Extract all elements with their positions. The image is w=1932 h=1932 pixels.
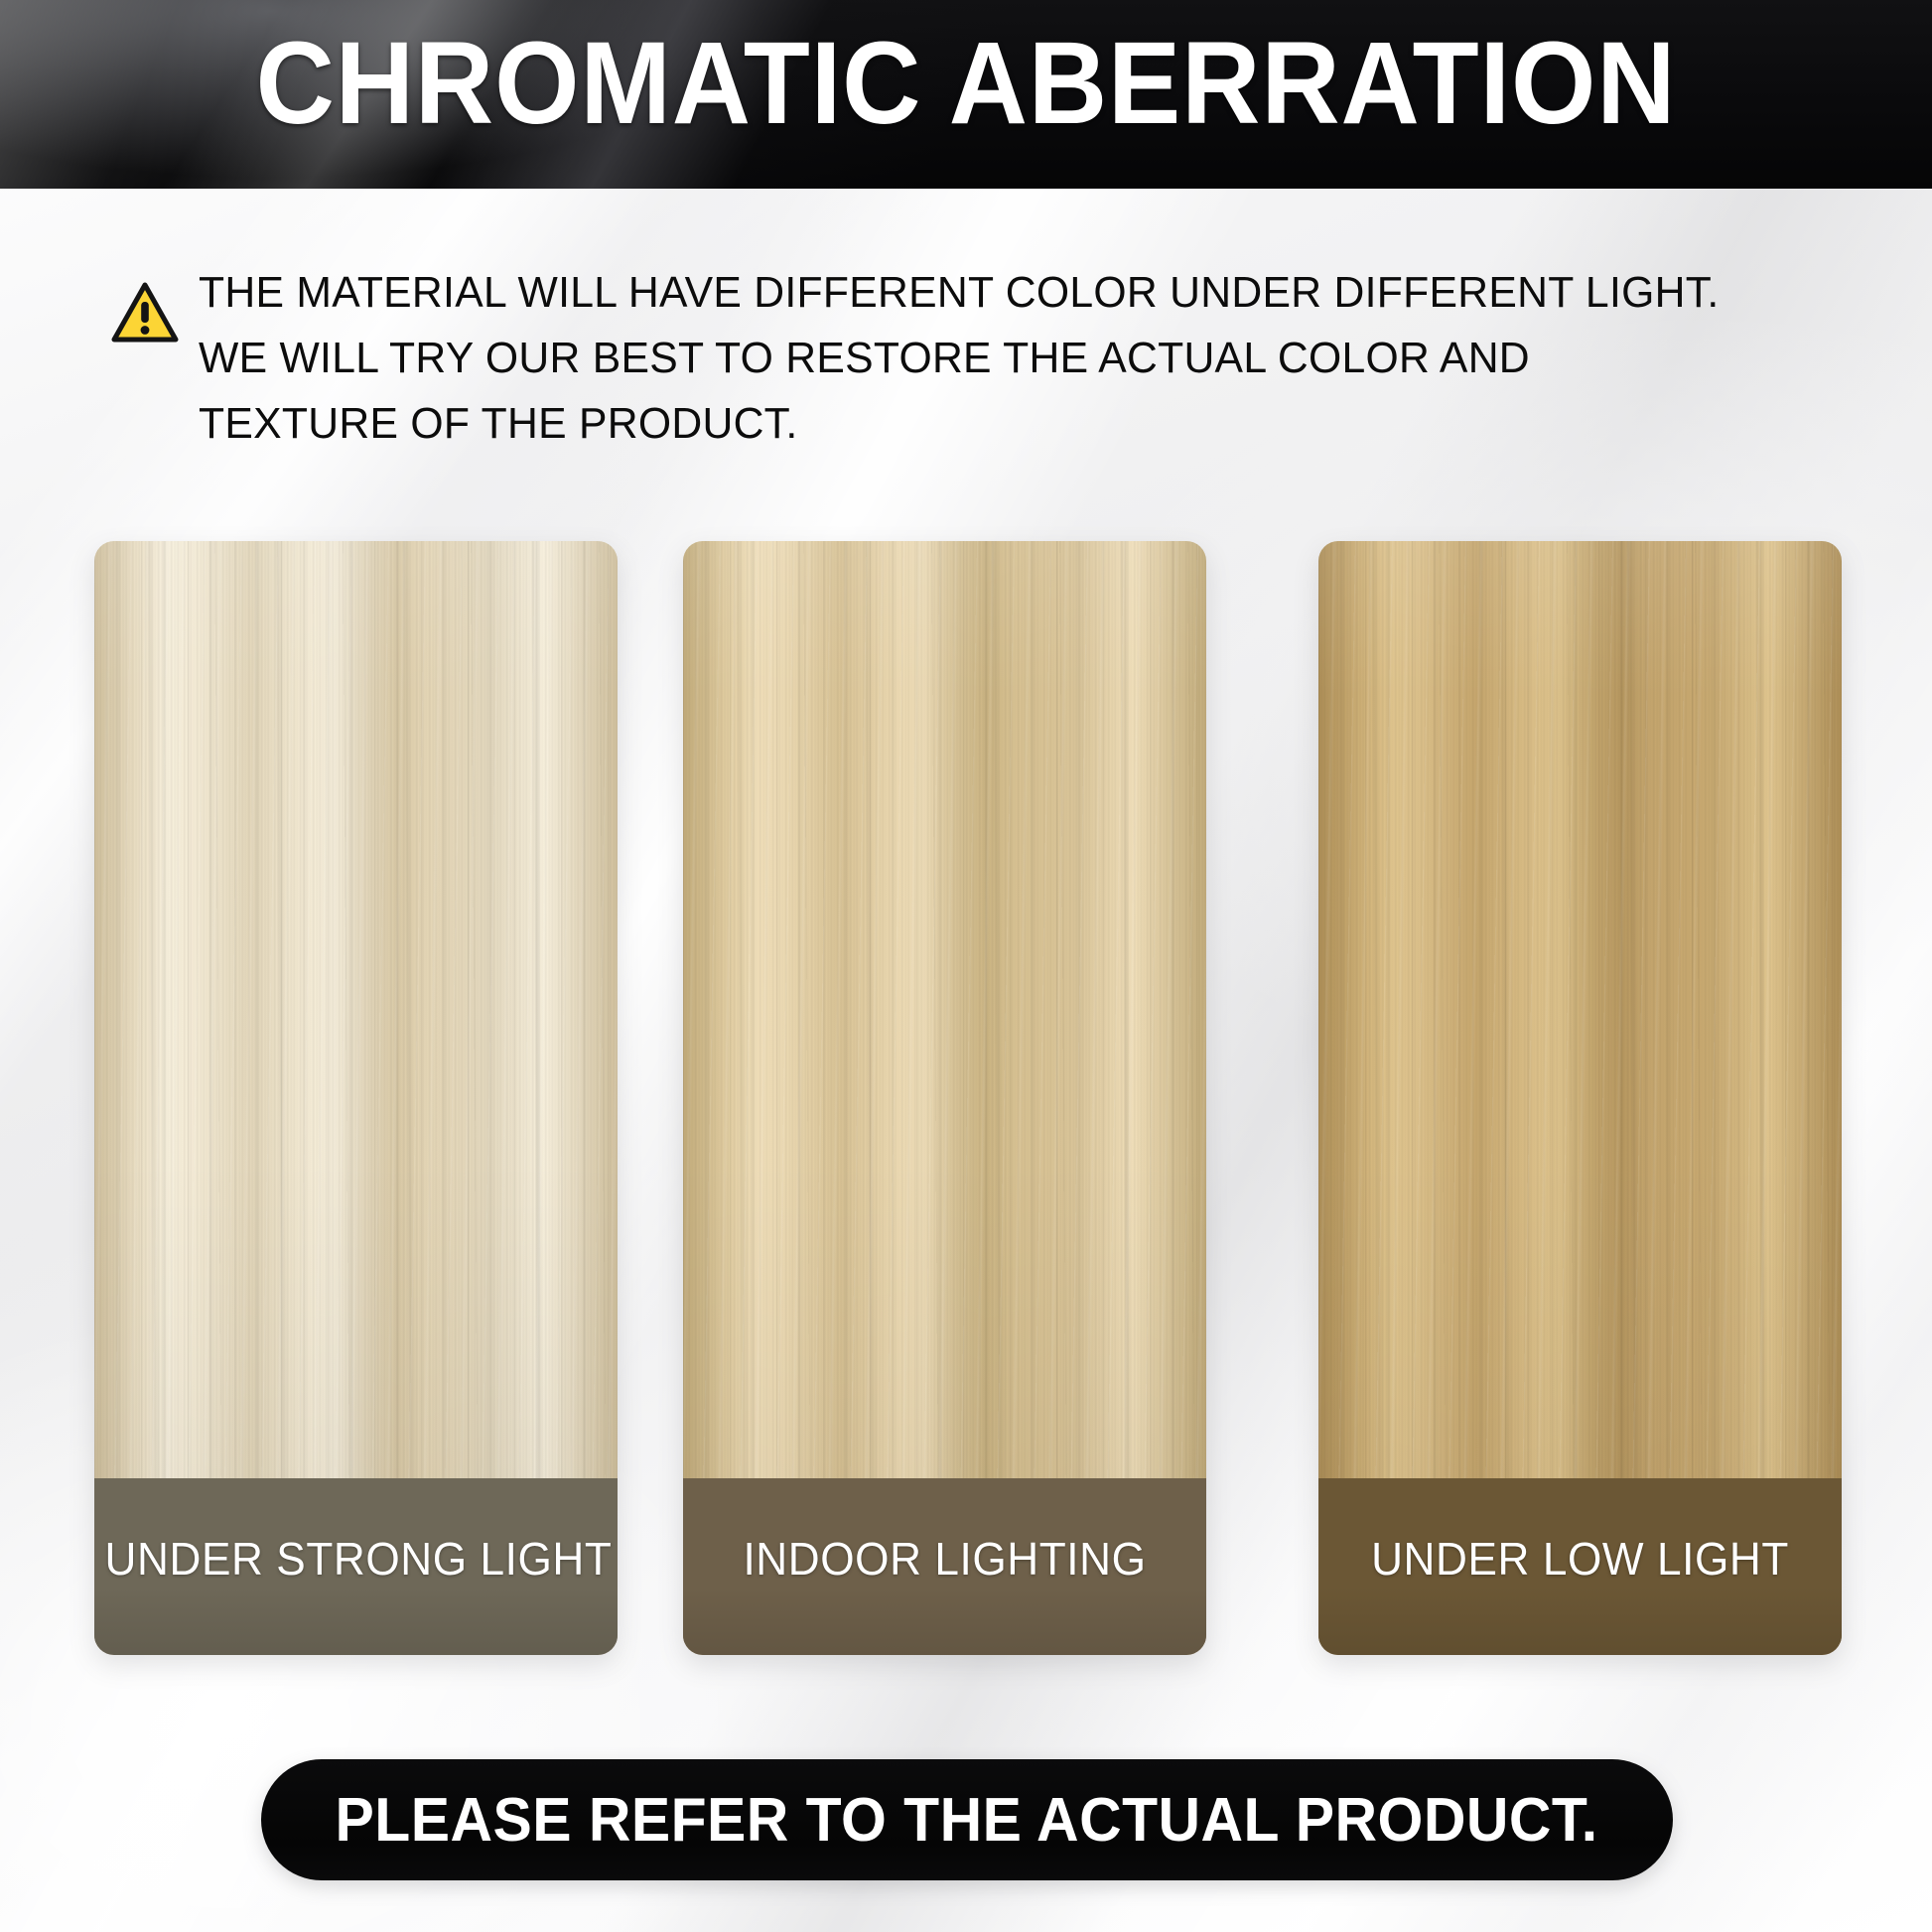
refer-to-actual-product-banner[interactable]: PLEASE REFER TO THE ACTUAL PRODUCT. [261, 1759, 1673, 1880]
swatch-caption-band: INDOOR LIGHTING [683, 1478, 1206, 1655]
disclaimer-line-1: THE MATERIAL WILL HAVE DIFFERENT COLOR U… [199, 260, 1720, 326]
swatch-label: UNDER LOW LIGHT [1329, 1532, 1832, 1586]
page-title: CHROMATIC ABERRATION [68, 16, 1864, 151]
warning-triangle-icon [111, 282, 179, 344]
disclaimer-note: THE MATERIAL WILL HAVE DIFFERENT COLOR U… [111, 260, 1819, 457]
swatch-caption-band: UNDER STRONG LIGHT [94, 1478, 618, 1655]
swatch-panel-under-strong-light[interactable]: UNDER STRONG LIGHT [94, 541, 618, 1655]
swatch-row: UNDER STRONG LIGHT INDOOR LIGHTING UNDER… [0, 541, 1932, 1658]
swatch-caption-band: UNDER LOW LIGHT [1318, 1478, 1842, 1655]
swatch-panel-under-low-light[interactable]: UNDER LOW LIGHT [1318, 541, 1842, 1655]
disclaimer-line-3: TEXTURE OF THE PRODUCT. [199, 391, 1720, 457]
disclaimer-text: THE MATERIAL WILL HAVE DIFFERENT COLOR U… [199, 260, 1720, 457]
header-banner: CHROMATIC ABERRATION [0, 0, 1932, 189]
swatch-panel-indoor-lighting[interactable]: INDOOR LIGHTING [683, 541, 1206, 1655]
footer-label: PLEASE REFER TO THE ACTUAL PRODUCT. [336, 1785, 1598, 1856]
swatch-label: UNDER STRONG LIGHT [105, 1532, 608, 1586]
swatch-label: INDOOR LIGHTING [694, 1532, 1196, 1586]
disclaimer-line-2: WE WILL TRY OUR BEST TO RESTORE THE ACTU… [199, 326, 1720, 391]
